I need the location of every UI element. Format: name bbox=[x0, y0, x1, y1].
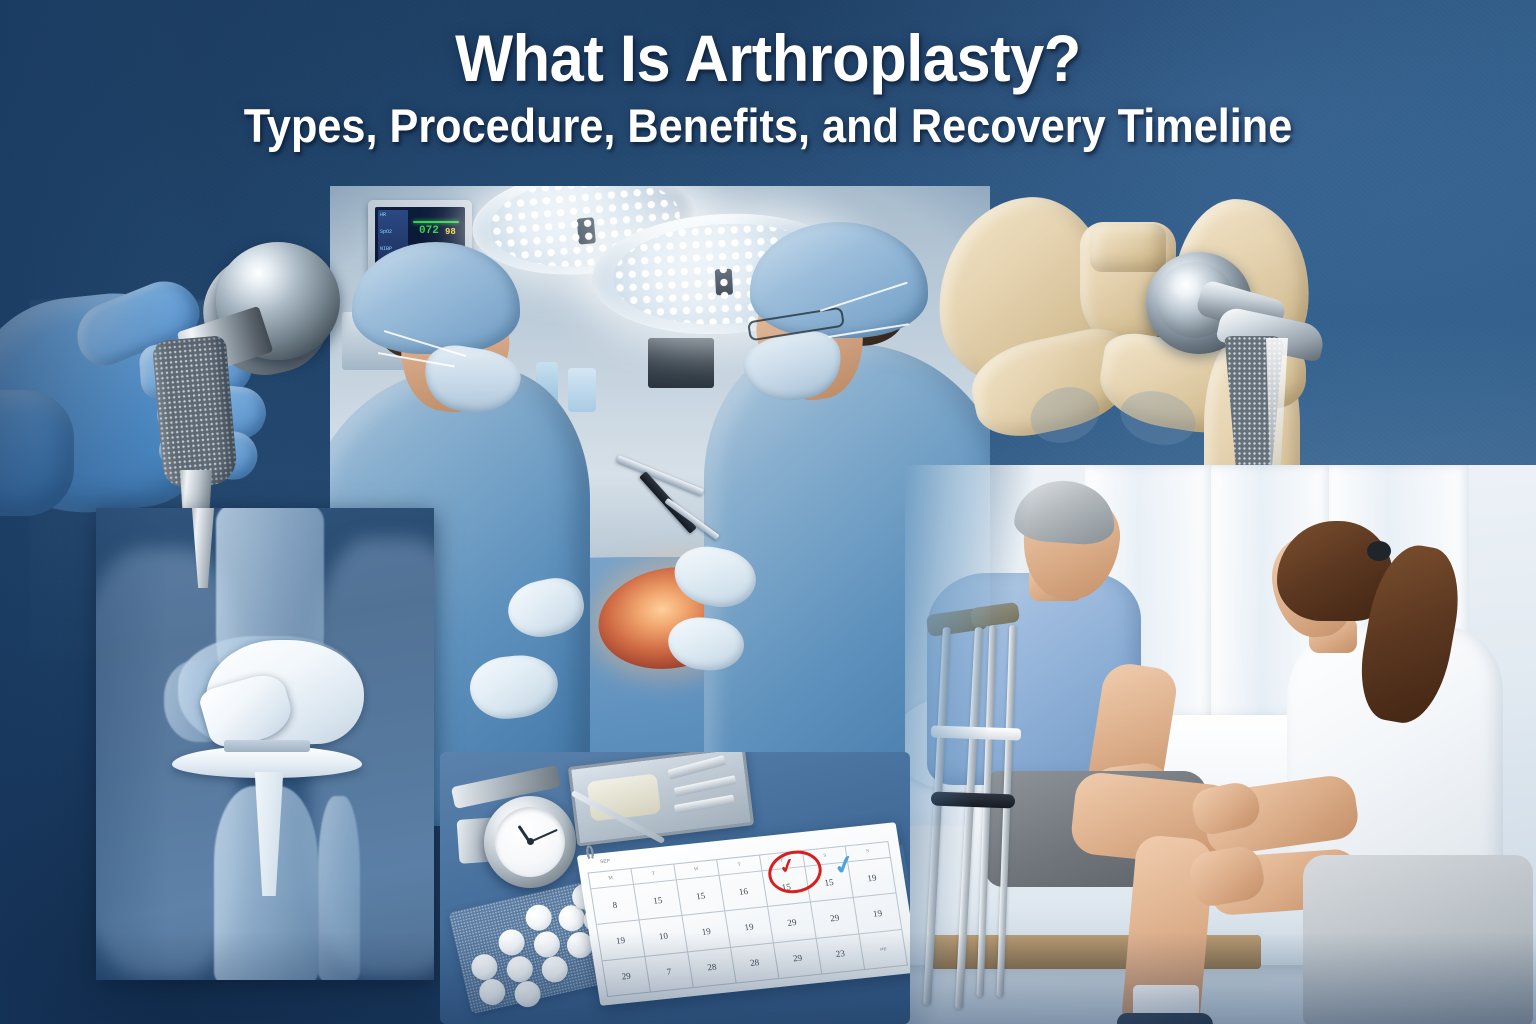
pill bbox=[531, 929, 562, 960]
header-block: What Is Arthroplasty? Types, Procedure, … bbox=[0, 24, 1536, 150]
watch-center-pin bbox=[527, 838, 534, 845]
surgical-glove-cuff bbox=[0, 390, 74, 516]
calendar-day: 10 bbox=[640, 916, 689, 956]
pill bbox=[477, 976, 508, 1007]
calendar-day: 19 bbox=[725, 907, 774, 947]
page-title: What Is Arthroplasty? bbox=[54, 24, 1482, 93]
calendar-grid: M T W T F S S 8 15 15 16 15 15 19 19 10 … bbox=[588, 841, 908, 997]
calendar-day: 16 bbox=[720, 871, 769, 911]
calendar-day: 23 bbox=[817, 934, 866, 974]
recovery-still-life: SEP M T W T F S S 8 15 15 16 15 15 19 19… bbox=[440, 752, 910, 1024]
calendar-day: 28 bbox=[731, 943, 780, 983]
calendar-day: 19 bbox=[597, 921, 646, 961]
calendar-day: 8 bbox=[591, 885, 640, 925]
xray-fibula bbox=[318, 796, 360, 980]
calendar-side-note: sep bbox=[860, 930, 909, 970]
pill bbox=[469, 952, 500, 983]
pill bbox=[496, 927, 527, 958]
tray-instrument-4 bbox=[674, 795, 735, 814]
spiral-ring bbox=[585, 845, 594, 861]
calendar-day: 29 bbox=[768, 903, 817, 943]
calendar-day: 7 bbox=[645, 952, 694, 992]
desk-calendar: SEP M T W T F S S 8 15 15 16 15 15 19 19… bbox=[577, 822, 910, 1006]
calendar-day: 29 bbox=[603, 957, 652, 997]
implant-porous-body bbox=[152, 335, 239, 489]
recovery-scene bbox=[905, 465, 1536, 1024]
pill bbox=[504, 954, 535, 985]
calendar-day: 29 bbox=[811, 898, 860, 938]
calendar-day: 15 bbox=[634, 880, 683, 920]
knee-tibial-insert bbox=[224, 740, 310, 752]
nurse-trousers bbox=[1303, 855, 1533, 1024]
crutch-handgrip bbox=[931, 792, 1015, 809]
pill bbox=[539, 954, 570, 985]
calendar-day: 19 bbox=[854, 894, 903, 934]
calendar-day: 28 bbox=[688, 948, 737, 988]
pelvis-lumbar-vertebra bbox=[1090, 224, 1166, 272]
calendar-day: 19 bbox=[683, 912, 732, 952]
calendar-day: 29 bbox=[774, 939, 823, 979]
tray-instrument-3 bbox=[674, 775, 737, 797]
patient-shoe bbox=[1117, 1013, 1213, 1024]
tray-instrument-1 bbox=[587, 773, 661, 821]
tray-instrument-2 bbox=[667, 755, 726, 780]
nurse-hair-tie bbox=[1367, 541, 1391, 561]
knee-xray-panel bbox=[96, 508, 434, 980]
pill bbox=[523, 902, 554, 933]
calendar-day: 15 bbox=[677, 876, 726, 916]
page-subtitle: Types, Procedure, Benefits, and Recovery… bbox=[61, 101, 1474, 150]
infographic-canvas: HR SpO2 NIBP RESP 072 98 120/80 16 bbox=[0, 0, 1536, 1024]
